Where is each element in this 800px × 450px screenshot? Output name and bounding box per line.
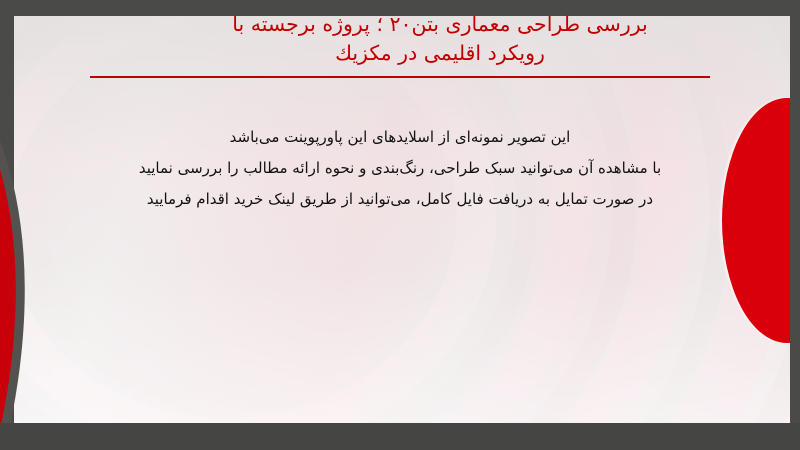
frame-right-band <box>790 0 800 450</box>
body-line-2: با مشاهده آن می‌توانید سبک طراحی، رنگ‌بن… <box>60 153 740 184</box>
slide-title: بررسی طراحی معماری بتن۲۰ ؛ پروژه برجسته … <box>120 10 760 68</box>
powerpoint-slide: بررسی طراحی معماری بتن۲۰ ؛ پروژه برجسته … <box>0 0 800 450</box>
slide-title-line-2: رویکرد اقلیمی در مکزیك <box>120 39 760 68</box>
body-line-3: در صورت تمایل به دریافت فایل کامل، می‌تو… <box>60 184 740 215</box>
frame-bottom-band <box>0 423 800 450</box>
body-line-1: این تصویر نمونه‌ای از اسلایدهای این پاور… <box>60 122 740 153</box>
slide-title-line-1: بررسی طراحی معماری بتن۲۰ ؛ پروژه برجسته … <box>120 10 760 39</box>
title-underline-rule <box>90 76 710 78</box>
slide-body: این تصویر نمونه‌ای از اسلایدهای این پاور… <box>60 122 740 214</box>
